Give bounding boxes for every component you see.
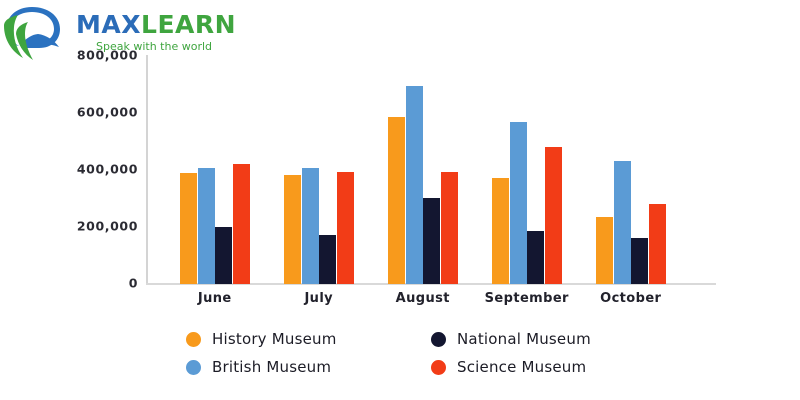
bar-british-july[interactable]: [302, 168, 319, 284]
bar-national-august[interactable]: [423, 198, 440, 284]
bar-history-october[interactable]: [596, 217, 613, 284]
bar-national-june[interactable]: [215, 227, 232, 284]
y-axis-tick-label: 200,000: [48, 219, 138, 234]
bar-group: [596, 55, 666, 284]
bar-group: [388, 55, 458, 284]
bar-british-september[interactable]: [510, 122, 527, 284]
bar-science-august[interactable]: [441, 172, 458, 284]
bar-national-september[interactable]: [527, 231, 544, 284]
y-axis-line: [146, 55, 148, 284]
legend-swatch-national-icon: [431, 332, 446, 347]
legend-label-history: History Museum: [212, 330, 337, 348]
y-axis-tick-label: 0: [48, 276, 138, 291]
legend-item-science[interactable]: Science Museum: [431, 358, 676, 376]
legend-label-national: National Museum: [457, 330, 591, 348]
bar-british-june[interactable]: [198, 168, 215, 284]
legend-swatch-history-icon: [186, 332, 201, 347]
bar-science-june[interactable]: [233, 164, 250, 284]
legend-item-british[interactable]: British Museum: [186, 358, 431, 376]
y-axis-tick-label: 800,000: [48, 48, 138, 63]
x-axis-tick-label-october: October: [600, 291, 661, 306]
bar-group: [284, 55, 354, 284]
chart-legend: History MuseumNational MuseumBritish Mus…: [186, 325, 626, 381]
x-axis-tick-label-july: July: [304, 291, 333, 306]
bar-science-september[interactable]: [545, 147, 562, 284]
bar-science-july[interactable]: [337, 172, 354, 284]
legend-label-science: Science Museum: [457, 358, 586, 376]
bar-history-june[interactable]: [180, 173, 197, 284]
legend-swatch-science-icon: [431, 360, 446, 375]
x-axis-tick-label-september: September: [485, 291, 569, 306]
x-axis-tick-label-august: August: [396, 291, 450, 306]
bar-history-september[interactable]: [492, 178, 509, 284]
bar-national-october[interactable]: [631, 238, 648, 284]
y-axis-tick-label: 600,000: [48, 105, 138, 120]
bar-history-july[interactable]: [284, 175, 301, 284]
legend-swatch-british-icon: [186, 360, 201, 375]
bar-british-august[interactable]: [406, 86, 423, 284]
bar-group: [180, 55, 250, 284]
y-axis-tick-label: 400,000: [48, 162, 138, 177]
bar-history-august[interactable]: [388, 117, 405, 284]
bar-national-july[interactable]: [319, 235, 336, 284]
legend-item-national[interactable]: National Museum: [431, 330, 676, 348]
legend-item-history[interactable]: History Museum: [186, 330, 431, 348]
legend-label-british: British Museum: [212, 358, 331, 376]
bar-british-october[interactable]: [614, 161, 631, 284]
bar-science-october[interactable]: [649, 204, 666, 284]
x-axis-tick-label-june: June: [198, 291, 232, 306]
bar-group: [492, 55, 562, 284]
